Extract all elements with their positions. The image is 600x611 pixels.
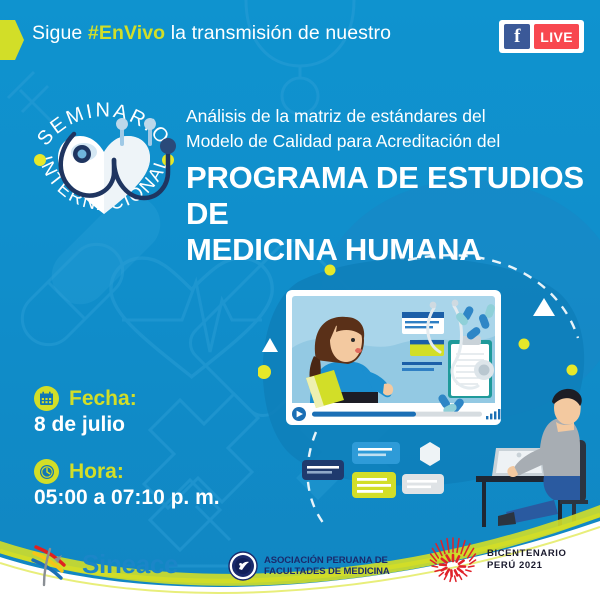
calendar-icon <box>34 386 59 411</box>
accent-arrow-shape <box>0 20 24 60</box>
header-hashtag: #EnVivo <box>88 22 165 44</box>
sineace-name: Sineace <box>82 549 178 580</box>
promo-poster: Sigue #EnVivo la transmisión de nuestro … <box>0 0 600 611</box>
apfm-seal-icon <box>228 551 258 581</box>
clock-icon <box>34 459 59 484</box>
header-text-after: la transmisión de nuestro <box>165 22 391 44</box>
date-value: 8 de julio <box>34 413 284 437</box>
apfm-name: ASOCIACIÓN PERUANA DE FACULTADES DE MEDI… <box>264 555 390 578</box>
time-label: Hora: <box>69 460 124 484</box>
subtitle-line-2: Modelo de Calidad para Acreditación del <box>186 129 566 154</box>
apfm-line-1: ASOCIACIÓN PERUANA DE <box>264 555 390 567</box>
footer-logos: Sineace ASOCIACIÓN PERUANA DE FACULTADES… <box>0 525 600 611</box>
live-label: LIVE <box>534 24 579 49</box>
header-text-before: Sigue <box>32 22 88 44</box>
apfm-logo: ASOCIACIÓN PERUANA DE FACULTADES DE MEDI… <box>228 551 390 581</box>
sineace-logo: Sineace <box>28 539 178 589</box>
header-banner: Sigue #EnVivo la transmisión de nuestro … <box>0 0 600 66</box>
facebook-icon: f <box>504 24 530 49</box>
date-label: Fecha: <box>69 387 137 411</box>
seminar-badge-logo: SEMINARIO INTERNACIONAL <box>18 74 190 246</box>
bicentenario-logo: BICENTENARIO PERÚ 2021 <box>428 535 567 585</box>
date-row: Fecha: <box>34 386 284 411</box>
event-subtitle: Análisis de la matriz de estándares del … <box>186 104 566 154</box>
apfm-line-2: FACULTADES DE MEDICINA <box>264 566 390 578</box>
subtitle-line-1: Análisis de la matriz de estándares del <box>186 104 566 129</box>
bicentenario-sunburst-icon <box>428 535 478 585</box>
header-tagline: Sigue #EnVivo la transmisión de nuestro <box>32 22 391 45</box>
facebook-live-badge[interactable]: f LIVE <box>499 20 584 53</box>
bicentenario-name: BICENTENARIO PERÚ 2021 <box>487 548 567 572</box>
time-row: Hora: <box>34 459 284 484</box>
title-line-1: PROGRAMA DE ESTUDIOS DE <box>186 160 586 232</box>
bicentenario-line-1: BICENTENARIO <box>487 548 567 560</box>
bicentenario-line-2: PERÚ 2021 <box>487 560 567 572</box>
sineace-bird-icon <box>28 539 76 589</box>
webinar-illustration <box>258 252 600 527</box>
